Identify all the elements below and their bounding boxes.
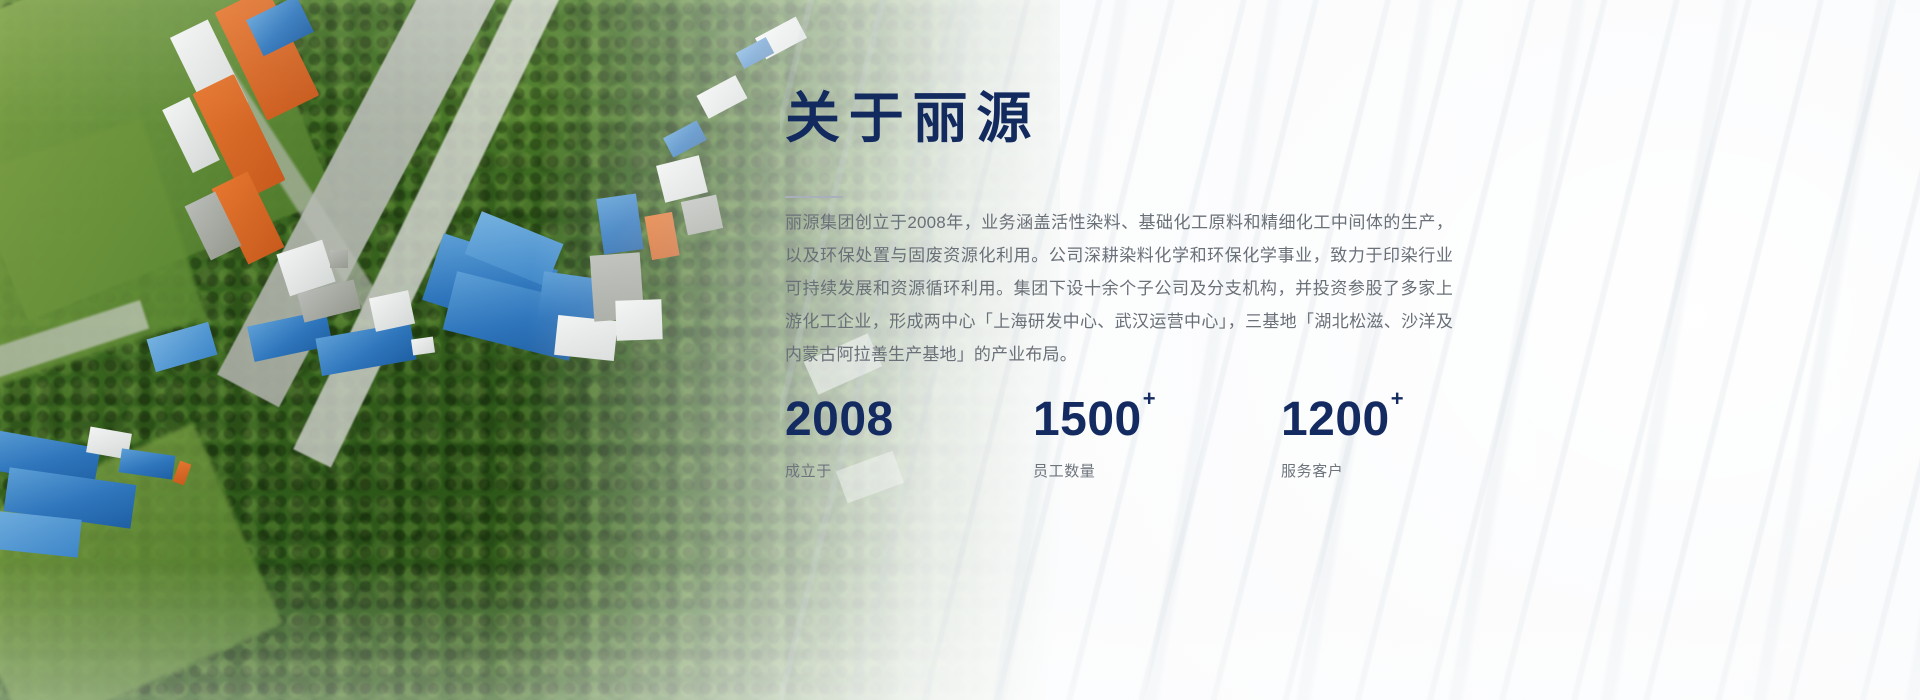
about-content: 关于丽源 丽源集团创立于2008年，业务涵盖活性染料、基础化工原料和精细化工中间… [785, 0, 1785, 700]
hero-section: 关于丽源 丽源集团创立于2008年，业务涵盖活性染料、基础化工原料和精细化工中间… [0, 0, 1920, 700]
stat-value: 1200+ [1281, 396, 1529, 444]
stat-label: 员工数量 [1033, 460, 1281, 481]
stat-plus-sign: + [1391, 386, 1404, 411]
stat-founded-year: 2008 成立于 [785, 396, 1033, 481]
stat-number: 2008 [785, 393, 894, 446]
title-divider [785, 196, 843, 198]
stat-customers-served: 1200+ 服务客户 [1281, 396, 1529, 481]
stat-value: 2008 [785, 396, 1033, 444]
stat-value: 1500+ [1033, 396, 1281, 444]
stat-label: 服务客户 [1281, 460, 1529, 481]
page-title: 关于丽源 [785, 88, 1040, 149]
stat-employee-count: 1500+ 员工数量 [1033, 396, 1281, 481]
stat-plus-sign: + [1143, 386, 1156, 411]
stat-number: 1500 [1033, 393, 1142, 446]
stat-label: 成立于 [785, 460, 1033, 481]
stat-number: 1200 [1281, 393, 1390, 446]
stats-row: 2008 成立于 1500+ 员工数量 1200+ 服务客户 [785, 396, 1529, 481]
about-paragraph: 丽源集团创立于2008年，业务涵盖活性染料、基础化工原料和精细化工中间体的生产，… [785, 206, 1453, 371]
